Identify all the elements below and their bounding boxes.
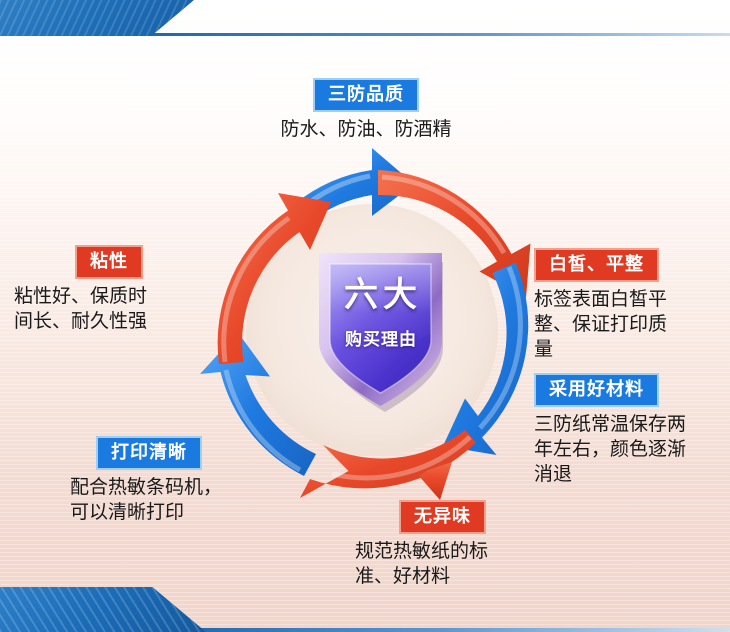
callout-printing-body: 配合热敏条码机， 可以清晰打印 (70, 475, 286, 525)
callout-odorless-tag[interactable]: 无异味 (399, 500, 486, 534)
bottom-banner (0, 587, 206, 632)
callout-printing-tag[interactable]: 打印清晰 (96, 436, 202, 470)
callout-adhesion-tag[interactable]: 粘性 (75, 245, 143, 279)
callout-quality-body: 防水、防油、防酒精 (244, 117, 488, 142)
callout-printing-tag-row: 打印清晰 (70, 436, 286, 470)
top-banner-stripe-pattern (0, 0, 194, 36)
bottom-banner-rule (160, 628, 730, 632)
callout-printing: 打印清晰 配合热敏条码机， 可以清晰打印 (70, 436, 286, 525)
callout-adhesion-body: 粘性好、保质时 间长、耐久性强 (14, 284, 204, 334)
top-banner-rule (150, 33, 730, 36)
shield-gloss (330, 264, 431, 353)
callout-whiteness-tag[interactable]: 白皙、平整 (534, 248, 659, 282)
infographic-page: 购买理由 (0, 0, 730, 632)
center-shield-badge: 六大 购买理由 (311, 243, 450, 413)
callout-odorless-body: 规范热敏纸的标 准、好材料 (355, 539, 555, 589)
callout-adhesion-tag-row: 粘性 (14, 245, 204, 279)
callout-quality: 三防品质 防水、防油、防酒精 (244, 78, 488, 142)
callout-whiteness-body: 标签表面白皙平 整、保证打印质 量 (534, 287, 720, 362)
callout-material-tag[interactable]: 采用好材料 (534, 373, 659, 407)
callout-odorless-tag-row: 无异味 (355, 500, 555, 534)
bottom-banner-stripe-pattern (0, 587, 206, 632)
callout-quality-tag[interactable]: 三防品质 (313, 78, 419, 112)
callout-adhesion: 粘性 粘性好、保质时 间长、耐久性强 (14, 245, 204, 334)
callout-whiteness: 白皙、平整 标签表面白皙平 整、保证打印质 量 (534, 248, 720, 362)
top-banner (0, 0, 194, 36)
callout-odorless: 无异味 规范热敏纸的标 准、好材料 (355, 500, 555, 589)
callout-material-body: 三防纸常温保存两 年左右，颜色逐渐 消退 (534, 412, 724, 487)
callout-material: 采用好材料 三防纸常温保存两 年左右，颜色逐渐 消退 (534, 373, 724, 487)
